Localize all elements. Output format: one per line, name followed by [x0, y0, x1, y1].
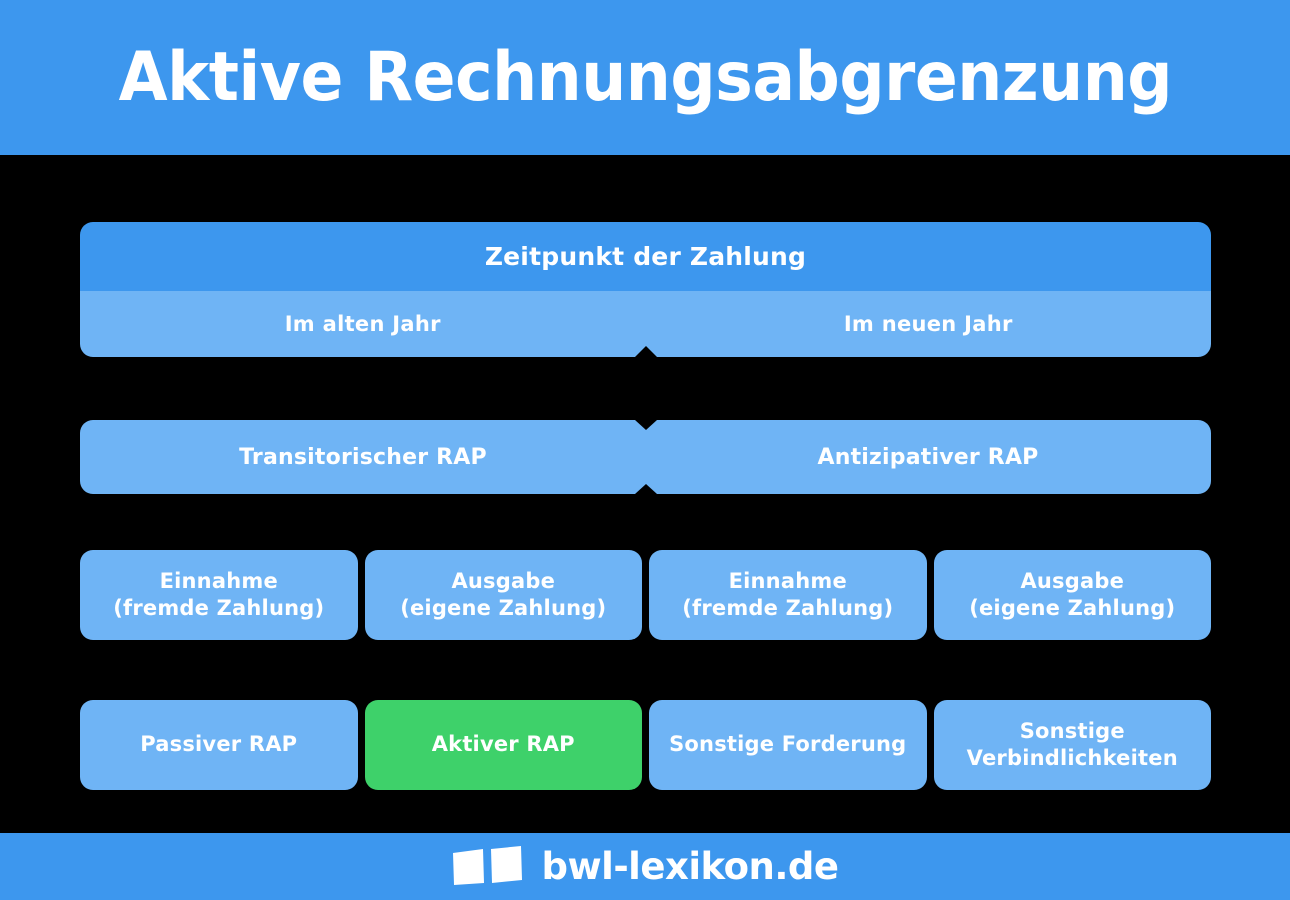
level-3-cell-2: Ausgabe(eigene Zahlung): [365, 550, 643, 640]
level-3-row: Einnahme(fremde Zahlung) Ausgabe(eigene …: [80, 550, 1211, 640]
level-3-cell-1-label: Einnahme(fremde Zahlung): [113, 568, 324, 623]
divider-notch-top-icon: [635, 420, 657, 430]
level-1-heading: Zeitpunkt der Zahlung: [80, 222, 1211, 291]
divider-notch-icon: [635, 346, 657, 357]
level-2-box-transitorisch: Transitorischer RAP: [80, 420, 646, 494]
level-4-cell-sonstige-verbindlichkeiten: SonstigeVerbindlichkeiten: [934, 700, 1212, 790]
level-1-columns: Im alten Jahr Im neuen Jahr: [80, 291, 1211, 357]
level-3-cell-2-label: Ausgabe(eigene Zahlung): [400, 568, 606, 623]
footer-band: bwl-lexikon.de: [0, 833, 1290, 900]
brand-name: bwl-lexikon.de: [541, 848, 838, 885]
level-1-column-new-year-label: Im neuen Jahr: [844, 312, 1013, 336]
divider-notch-bottom-icon: [635, 484, 657, 494]
level-4-cell-aktiver-rap: Aktiver RAP: [365, 700, 643, 790]
open-book-icon: [451, 846, 525, 888]
level-2-row: Transitorischer RAP Antizipativer RAP: [80, 420, 1211, 494]
level-2-box-antizipativ-label: Antizipativer RAP: [817, 445, 1038, 470]
level-3-cell-4-label: Ausgabe(eigene Zahlung): [969, 568, 1175, 623]
level-3-cell-3: Einnahme(fremde Zahlung): [649, 550, 927, 640]
diagram-page: Aktive Rechnungsabgrenzung Zeitpunkt der…: [0, 0, 1290, 900]
level-3-cell-3-label: Einnahme(fremde Zahlung): [682, 568, 893, 623]
level-4-row: Passiver RAP Aktiver RAP Sonstige Forder…: [80, 700, 1211, 790]
level-4-cell-aktiver-rap-label: Aktiver RAP: [432, 731, 575, 758]
level-1-column-old-year: Im alten Jahr: [80, 291, 646, 357]
diagram-body: Zeitpunkt der Zahlung Im alten Jahr Im n…: [80, 180, 1211, 820]
level-3-cell-1: Einnahme(fremde Zahlung): [80, 550, 358, 640]
level-4-cell-passiver-rap: Passiver RAP: [80, 700, 358, 790]
level-2-box-antizipativ: Antizipativer RAP: [645, 420, 1211, 494]
level-2-box-transitorisch-label: Transitorischer RAP: [239, 445, 487, 470]
level-4-cell-sonstige-verbindlichkeiten-label: SonstigeVerbindlichkeiten: [967, 718, 1178, 773]
level-1-column-old-year-label: Im alten Jahr: [285, 312, 441, 336]
level-1-block: Zeitpunkt der Zahlung Im alten Jahr Im n…: [80, 222, 1211, 357]
page-title: Aktive Rechnungsabgrenzung: [118, 44, 1171, 112]
level-4-cell-sonstige-forderung: Sonstige Forderung: [649, 700, 927, 790]
level-1-column-new-year: Im neuen Jahr: [646, 291, 1212, 357]
header-band: Aktive Rechnungsabgrenzung: [0, 0, 1290, 155]
level-4-cell-sonstige-forderung-label: Sonstige Forderung: [669, 731, 906, 758]
level-3-cell-4: Ausgabe(eigene Zahlung): [934, 550, 1212, 640]
level-1-heading-label: Zeitpunkt der Zahlung: [485, 242, 806, 271]
level-4-cell-passiver-rap-label: Passiver RAP: [140, 731, 297, 758]
